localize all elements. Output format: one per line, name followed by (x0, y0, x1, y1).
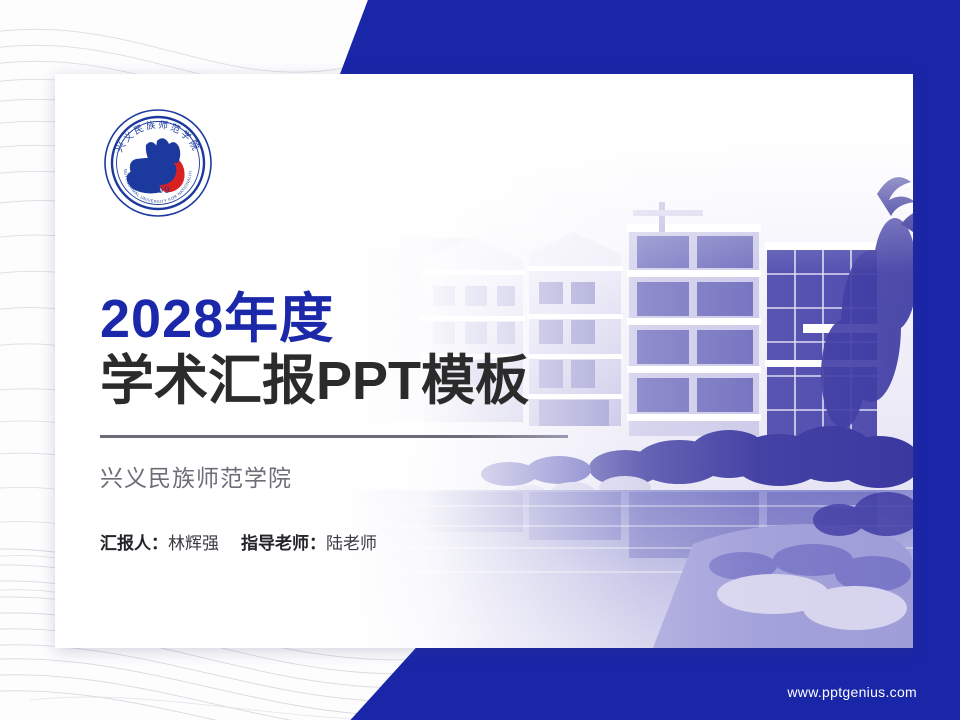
advisor-name: 陆老师 (326, 534, 377, 553)
title-divider (100, 435, 568, 438)
svg-text:2009: 2009 (145, 185, 171, 195)
top-right-blue-shape (340, 0, 960, 74)
school-name: 兴义民族师范学院 (100, 459, 640, 493)
university-logo: 兴义民族师范学院 XINGYI NORMAL UNIVERSITY FOR NA… (102, 107, 214, 219)
title-year: 2028年度 (100, 289, 640, 349)
presenter-line: 汇报人：林辉强指导老师：陆老师 (100, 529, 640, 554)
title-block: 2028年度 学术汇报PPT模板 兴义民族师范学院 汇报人：林辉强指导老师：陆老… (100, 289, 640, 554)
presentation-slide: 兴义民族师范学院 XINGYI NORMAL UNIVERSITY FOR NA… (0, 0, 960, 720)
presenter-label: 汇报人： (100, 534, 168, 553)
footer-url[interactable]: www.pptgenius.com (787, 684, 917, 700)
content-card: 兴义民族师范学院 XINGYI NORMAL UNIVERSITY FOR NA… (55, 74, 913, 648)
advisor-label: 指导老师： (241, 534, 326, 553)
title-main: 学术汇报PPT模板 (100, 351, 640, 413)
presenter-name: 林辉强 (168, 534, 219, 553)
